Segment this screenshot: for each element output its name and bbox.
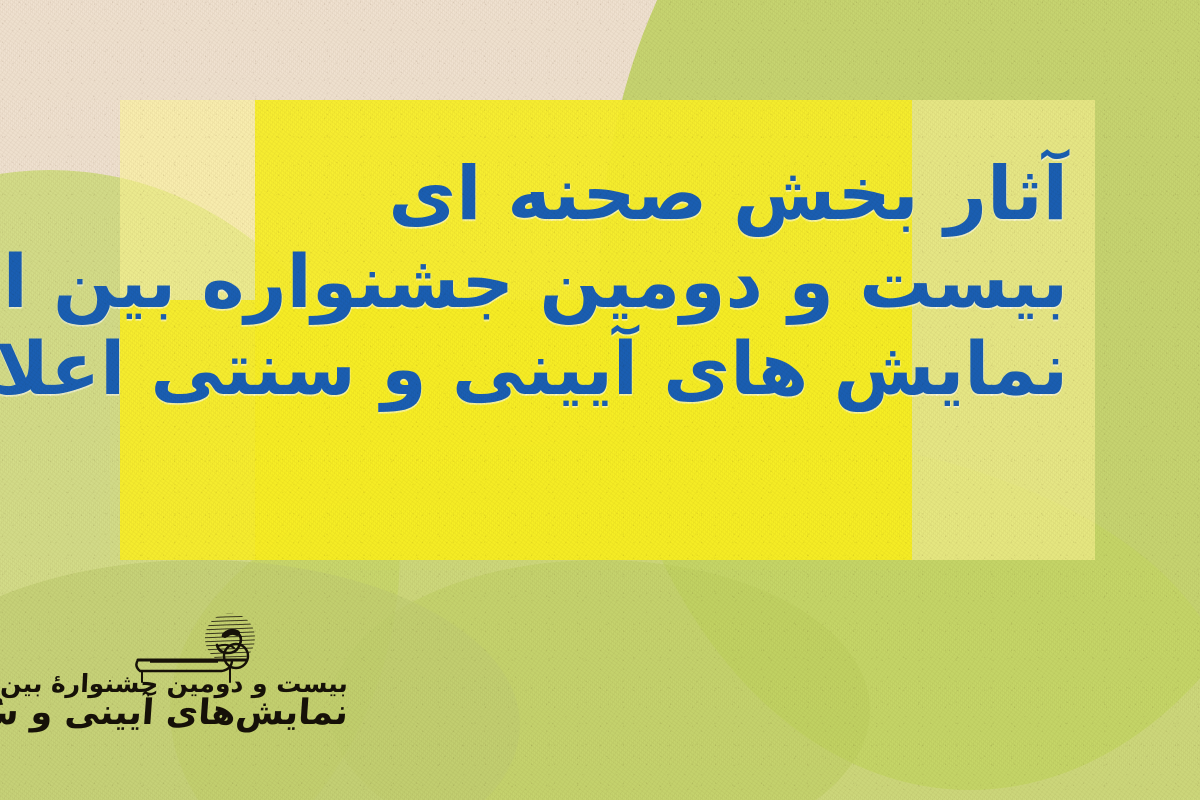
headline-line-3: نمایش های آیینی و سنتی اعلام شد — [128, 326, 1068, 414]
headline-line-2: بیست و دومین جشنواره بین المللی — [128, 239, 1068, 327]
poster-canvas: آثار بخش صحنه ای بیست و دومین جشنواره بی… — [0, 0, 1200, 800]
festival-logo-text: بیست و دومین جشنوارۀ بین المللی نمایش‌ها… — [18, 670, 348, 732]
headline-line-1: آثار بخش صحنه ای — [128, 150, 1068, 239]
festival-logo-line-2: نمایش‌های آیینی و سُنتی — [17, 695, 350, 732]
festival-logo: بیست و دومین جشنوارۀ بین المللی نمایش‌ها… — [18, 612, 348, 792]
headline: آثار بخش صحنه ای بیست و دومین جشنواره بی… — [120, 150, 1068, 414]
